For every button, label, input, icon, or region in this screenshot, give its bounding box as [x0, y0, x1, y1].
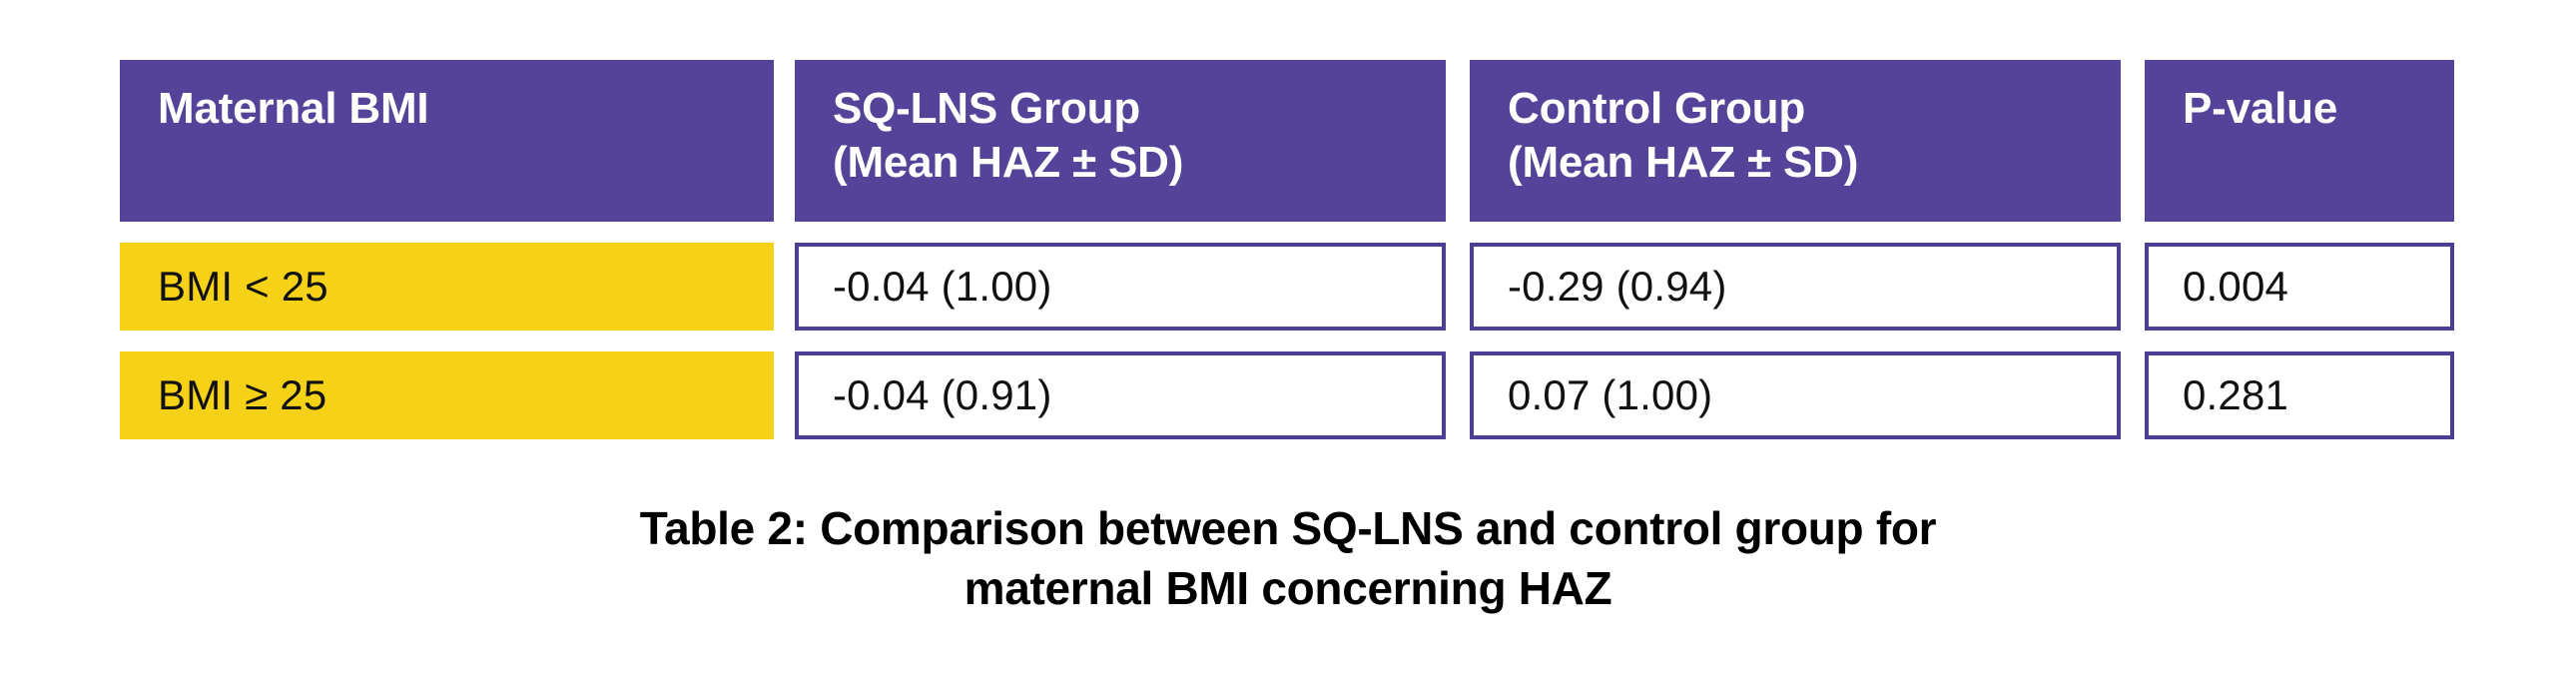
caption-line-1: Table 2: Comparison between SQ-LNS and c…	[0, 499, 2576, 559]
column-gutter	[1446, 243, 1470, 331]
table-caption: Table 2: Comparison between SQ-LNS and c…	[0, 499, 2576, 619]
row-label-bmi-under-25: BMI < 25	[120, 243, 774, 331]
header-label-maternal-bmi: Maternal BMI	[158, 84, 428, 133]
header-cell-maternal-bmi: Maternal BMI	[120, 60, 774, 222]
row-label-bmi-over-25: BMI ≥ 25	[120, 351, 774, 439]
column-gutter	[2121, 351, 2145, 439]
header-sublabel-control-group: (Mean HAZ ± SD)	[1508, 136, 2121, 190]
cell-sq-lns-bmi-under-25: -0.04 (1.00)	[795, 243, 1446, 331]
cell-sq-lns-bmi-over-25: -0.04 (0.91)	[795, 351, 1446, 439]
column-gutter	[1446, 60, 1470, 222]
header-label-control-group: Control Group	[1508, 84, 1805, 133]
header-cell-p-value: P-value	[2145, 60, 2454, 222]
column-gutter	[774, 351, 795, 439]
comparison-table: Maternal BMI SQ-LNS Group (Mean HAZ ± SD…	[120, 60, 2454, 439]
cell-p-value-bmi-under-25: 0.004	[2145, 243, 2454, 331]
cell-control-bmi-under-25: -0.29 (0.94)	[1470, 243, 2121, 331]
column-gutter	[2121, 60, 2145, 222]
row-gutter	[120, 222, 2454, 243]
header-label-p-value: P-value	[2183, 84, 2337, 133]
caption-line-2: maternal BMI concerning HAZ	[0, 559, 2576, 619]
column-gutter	[774, 243, 795, 331]
header-cell-control-group: Control Group (Mean HAZ ± SD)	[1470, 60, 2121, 222]
cell-control-bmi-over-25: 0.07 (1.00)	[1470, 351, 2121, 439]
table-row: BMI ≥ 25 -0.04 (0.91) 0.07 (1.00) 0.281	[120, 351, 2454, 439]
table-row: BMI < 25 -0.04 (1.00) -0.29 (0.94) 0.004	[120, 243, 2454, 331]
cell-p-value-bmi-over-25: 0.281	[2145, 351, 2454, 439]
header-label-sq-lns-group: SQ-LNS Group	[833, 84, 1140, 133]
column-gutter	[2121, 243, 2145, 331]
table-figure: Maternal BMI SQ-LNS Group (Mean HAZ ± SD…	[0, 0, 2576, 681]
table-header-row: Maternal BMI SQ-LNS Group (Mean HAZ ± SD…	[120, 60, 2454, 222]
column-gutter	[1446, 351, 1470, 439]
row-gutter	[120, 331, 2454, 351]
header-cell-sq-lns-group: SQ-LNS Group (Mean HAZ ± SD)	[795, 60, 1446, 222]
column-gutter	[774, 60, 795, 222]
header-sublabel-sq-lns-group: (Mean HAZ ± SD)	[833, 136, 1446, 190]
